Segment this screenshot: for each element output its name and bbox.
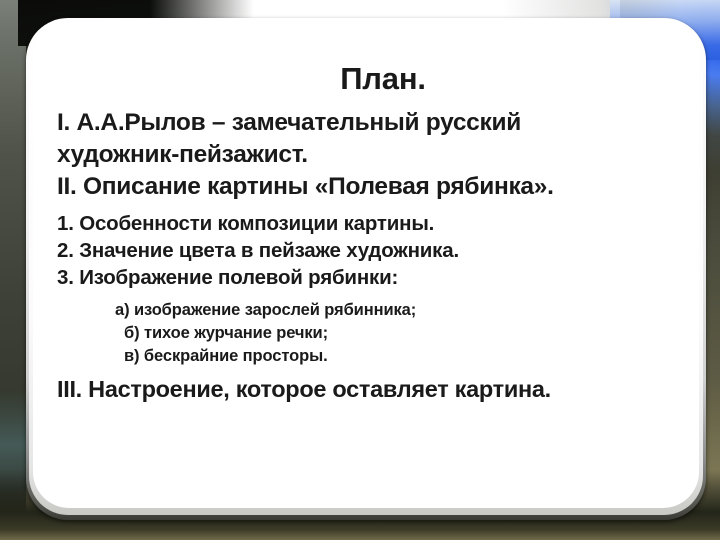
outline-item-roman-1-line-1: I. А.А.Рылов – замечательный русский bbox=[57, 107, 687, 139]
sub-outline-group: а) изображение зарослей рябинника; б) ти… bbox=[115, 299, 675, 368]
outline-subitem-v: в) бескрайние просторы. bbox=[115, 345, 675, 368]
outline-subitem-a: а) изображение зарослей рябинника; bbox=[115, 299, 675, 322]
slide-content: План. I. А.А.Рылов – замечательный русск… bbox=[33, 24, 699, 508]
numbered-outline-group: 1. Особенности композиции картины. 2. Зн… bbox=[57, 210, 697, 291]
outline-item-number-2: 2. Значение цвета в пейзаже художника. bbox=[57, 237, 697, 264]
presentation-slide: План. I. А.А.Рылов – замечательный русск… bbox=[0, 0, 720, 540]
slide-title: План. bbox=[33, 61, 699, 97]
slide-card-bezel: План. I. А.А.Рылов – замечательный русск… bbox=[26, 18, 706, 520]
outline-item-number-1: 1. Особенности композиции картины. bbox=[57, 210, 697, 237]
outline-item-roman-1-line-2: художник-пейзажист. bbox=[57, 139, 687, 171]
outline-subitem-b: б) тихое журчание речки; bbox=[115, 322, 675, 345]
outline-item-number-3: 3. Изображение полевой рябинки: bbox=[57, 264, 697, 291]
roman-outline-group: I. А.А.Рылов – замечательный русский худ… bbox=[57, 107, 687, 203]
outline-item-roman-3: III. Настроение, которое оставляет карти… bbox=[57, 374, 699, 404]
slide-card-surface: План. I. А.А.Рылов – замечательный русск… bbox=[33, 24, 699, 508]
slide-card-inner-bezel: План. I. А.А.Рылов – замечательный русск… bbox=[29, 21, 703, 515]
outline-item-roman-2: II. Описание картины «Полевая рябинка». bbox=[57, 171, 687, 203]
